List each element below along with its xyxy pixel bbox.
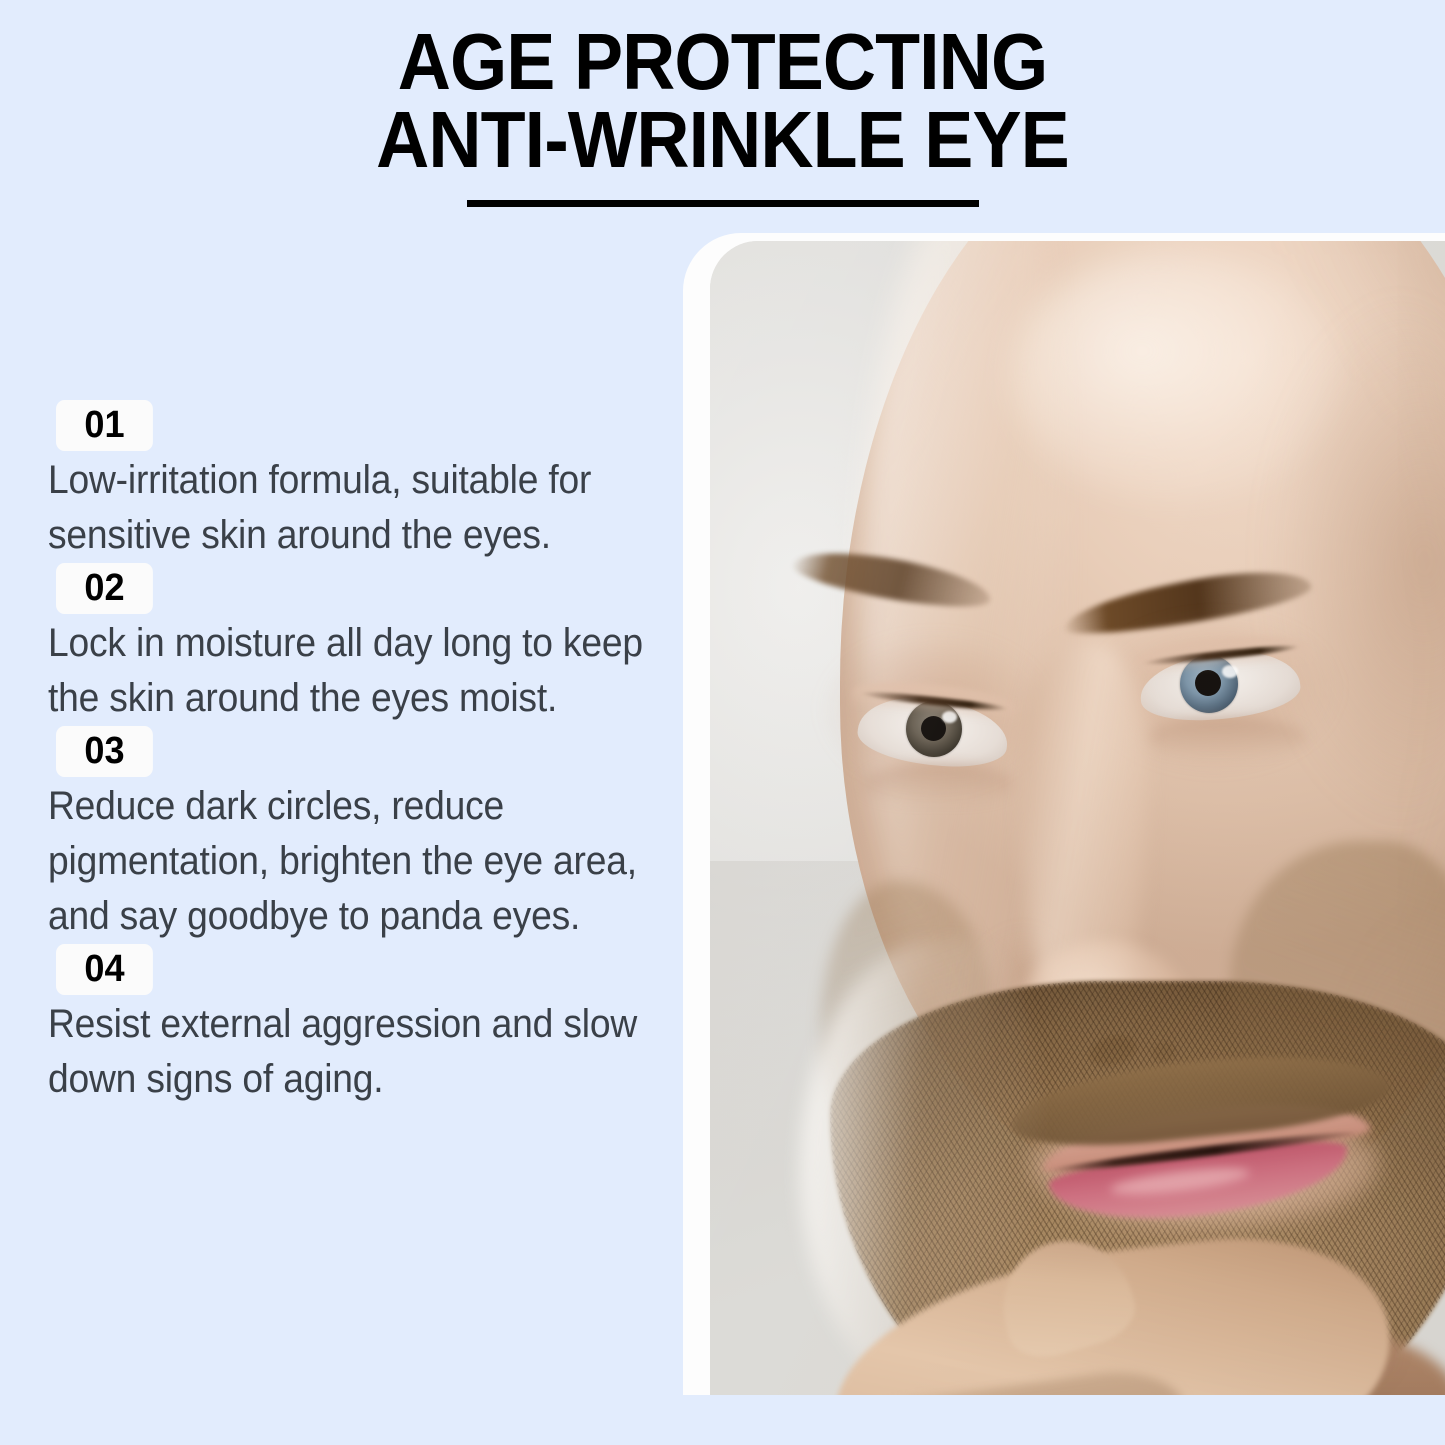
product-photo-frame [683, 233, 1445, 1395]
feature-number-badge-02: 02 [56, 563, 153, 614]
page-title-line-2: ANTI-WRINKLE EYE [58, 100, 1387, 178]
page-title-line-1: AGE PROTECTING [58, 0, 1387, 100]
feature-description-02: Lock in moisture all day long to keep th… [48, 616, 662, 726]
list-item: 01 Low-irritation formula, suitable for … [48, 400, 648, 563]
feature-number-badge-03: 03 [56, 726, 153, 777]
feature-number-badge-01: 01 [56, 400, 153, 451]
feature-description-03: Reduce dark circles, reduce pigmentation… [48, 779, 662, 944]
header: AGE PROTECTING ANTI-WRINKLE EYE [0, 0, 1445, 225]
feature-list: 01 Low-irritation formula, suitable for … [48, 400, 648, 1107]
feature-description-04: Resist external aggression and slow down… [48, 997, 662, 1107]
list-item: 03 Reduce dark circles, reduce pigmentat… [48, 726, 648, 944]
list-item: 02 Lock in moisture all day long to keep… [48, 563, 648, 726]
feature-number-badge-04: 04 [56, 944, 153, 995]
model-portrait-photo [710, 241, 1445, 1395]
list-item: 04 Resist external aggression and slow d… [48, 944, 648, 1107]
title-underline-rule [467, 200, 979, 207]
feature-description-01: Low-irritation formula, suitable for sen… [48, 453, 662, 563]
photo-color-grade [710, 241, 1445, 1395]
